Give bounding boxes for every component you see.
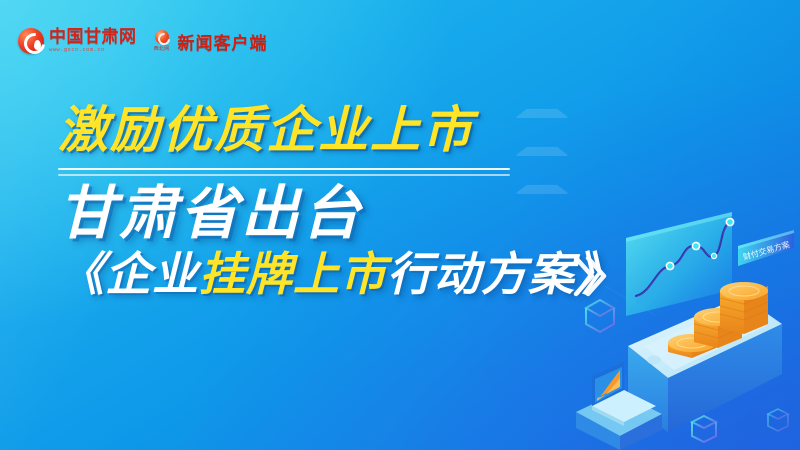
headline-divider — [58, 168, 510, 176]
double-chevron-icon — [576, 258, 604, 294]
gansu-net-logo-url: www.gscn.com.cn — [49, 48, 137, 54]
swirl-c-icon — [18, 28, 44, 54]
divider-line-top — [58, 168, 510, 170]
divider-line-bottom — [58, 174, 510, 176]
headline-bracket-open: 《 — [58, 247, 105, 301]
cube-icon-2 — [692, 416, 716, 442]
chart-panel — [626, 212, 734, 316]
headline-line3-highlight: 挂牌上市 — [199, 247, 387, 301]
swirl-flame-icon: 西北网 — [151, 30, 173, 52]
gansu-net-logo[interactable]: 中国甘肃网 www.gscn.com.cn — [18, 28, 137, 54]
news-client-seal-text: 西北网 — [154, 45, 170, 52]
logo-bar: 中国甘肃网 www.gscn.com.cn 西北网 新闻客户端 — [18, 28, 268, 54]
scheme-tag-banner: 财付交易方案 — [738, 230, 794, 266]
cube-icon-3 — [768, 409, 788, 431]
headline-line3-part1: 企业 — [105, 247, 199, 301]
headline-line3-part3: 行动方案 — [387, 247, 575, 301]
headline-line-1: 激励优质企业上市 — [58, 104, 678, 156]
cube-icon-1 — [586, 300, 614, 332]
isometric-finance-illustration: 财付交易方案 — [570, 200, 800, 450]
news-client-logo[interactable]: 西北网 新闻客户端 — [151, 29, 268, 54]
gansu-net-logo-text: 中国甘肃网 — [49, 29, 137, 46]
coin-stack-tall — [720, 282, 768, 334]
news-banner: 中国甘肃网 www.gscn.com.cn 西北网 新闻客户端 激励优质企业上市… — [0, 0, 800, 450]
news-client-logo-text: 新闻客户端 — [178, 29, 268, 54]
